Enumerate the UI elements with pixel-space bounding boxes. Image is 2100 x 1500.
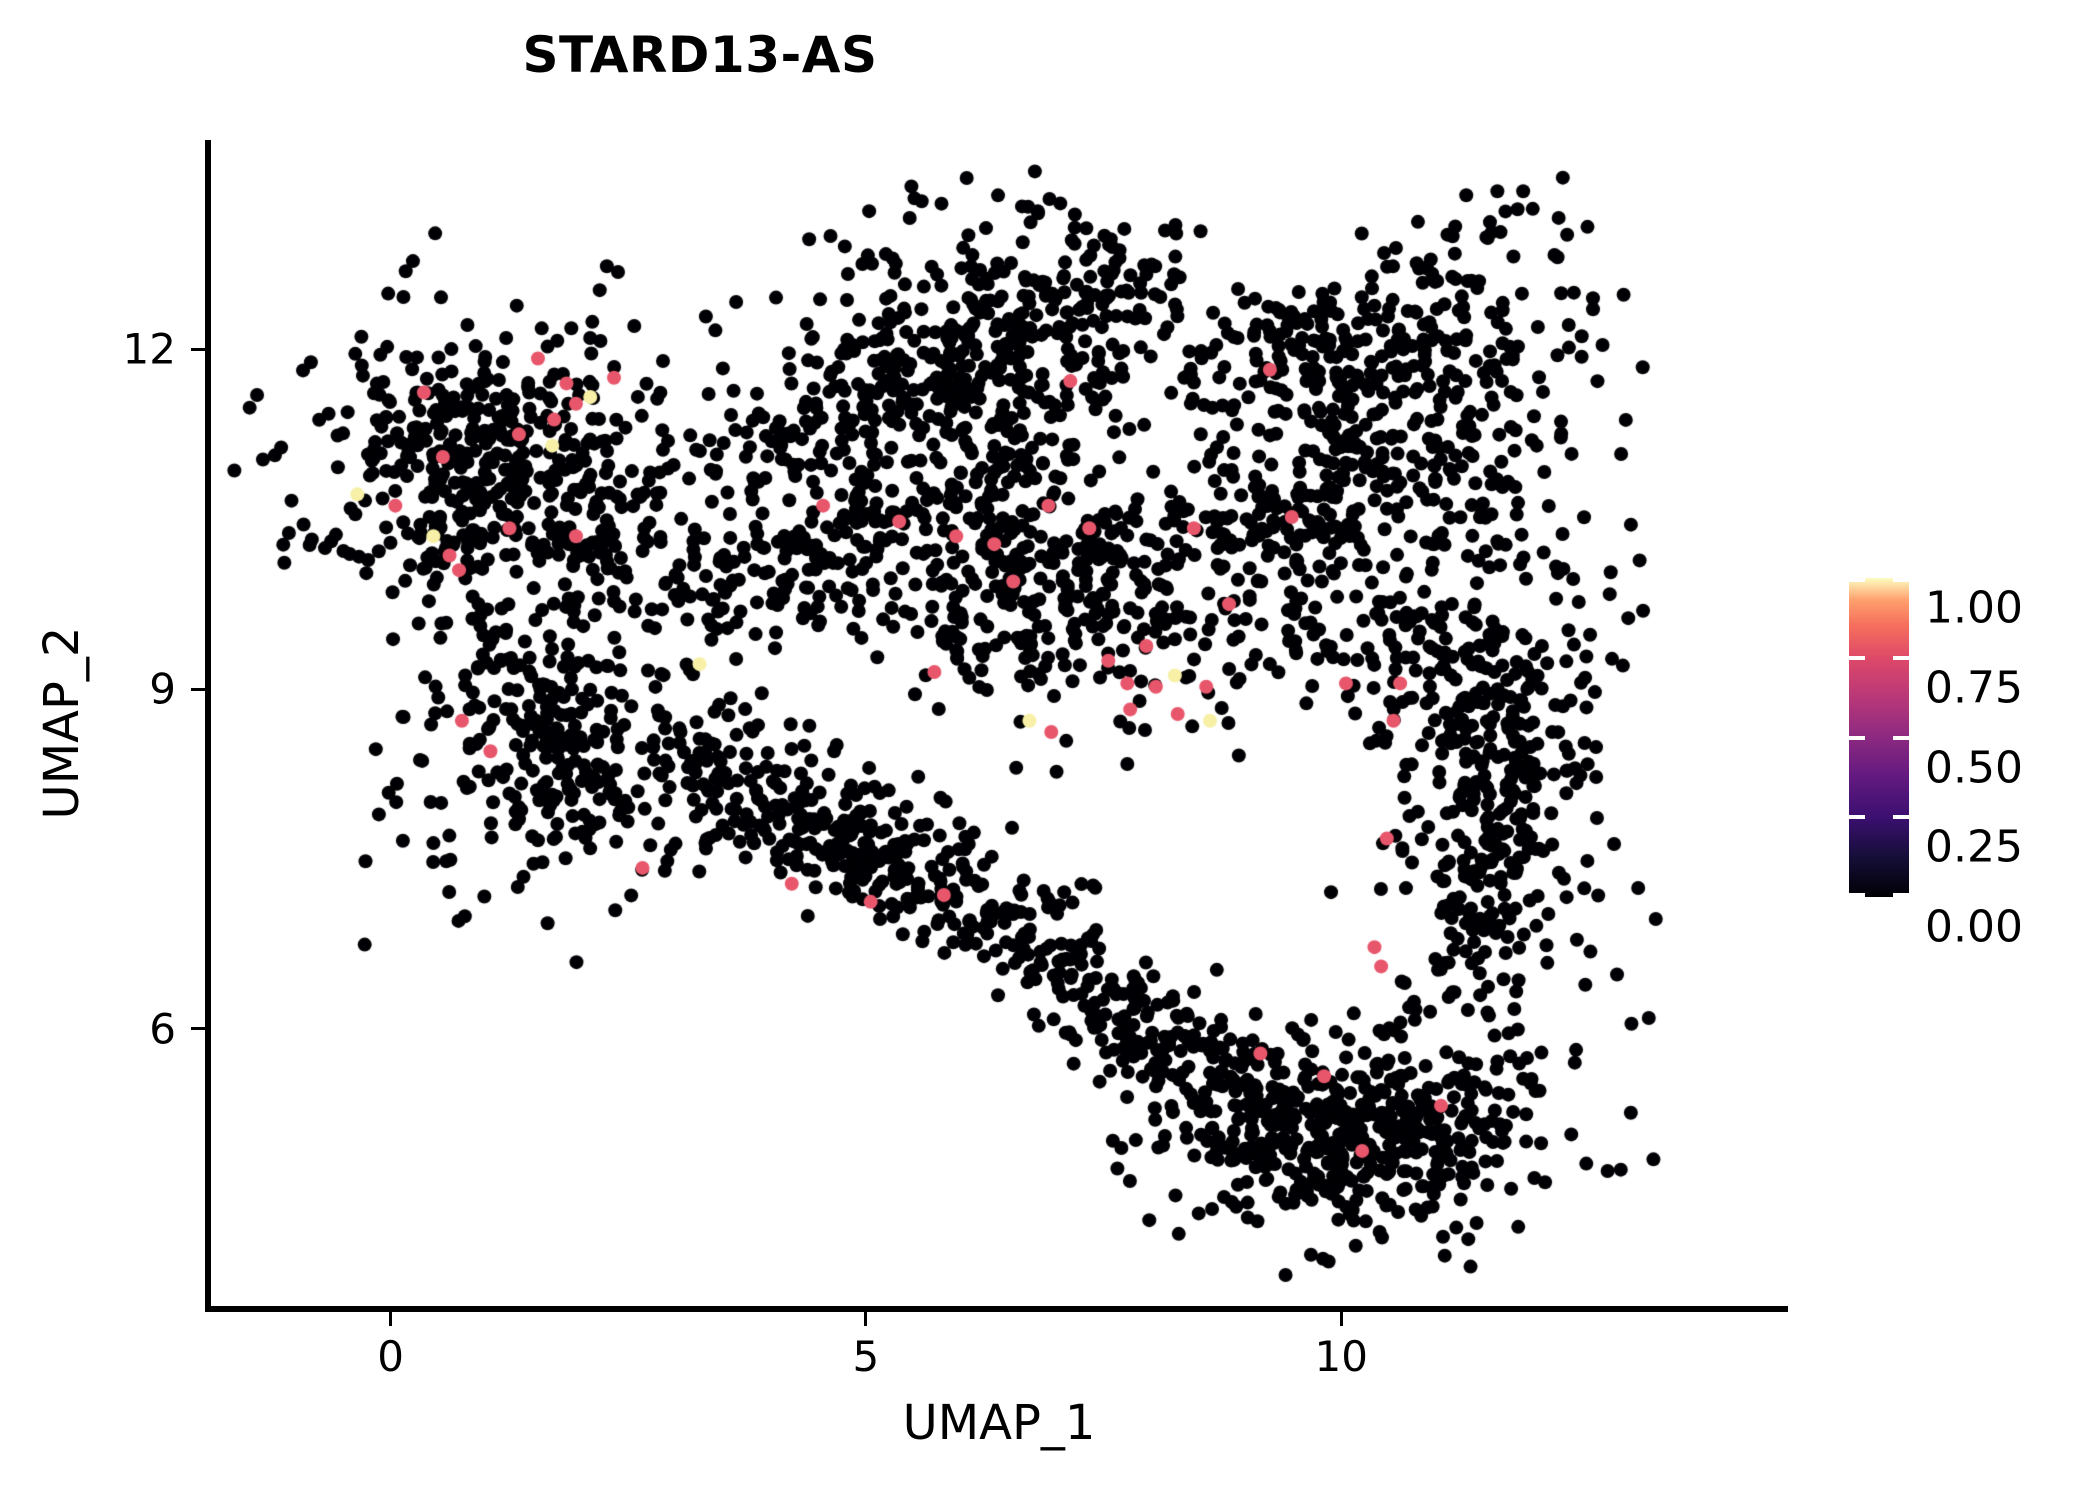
page-title: STARD13-AS: [0, 26, 1400, 84]
colorbar-tick-label: 0.25: [1925, 822, 2023, 873]
x-tick-mark: [389, 1312, 392, 1326]
x-axis-label: UMAP_1: [210, 1395, 1788, 1451]
colorbar-tick-label: 1.00: [1925, 583, 2023, 634]
x-tick-mark: [864, 1312, 867, 1326]
colorbar: 1.000.750.500.250.00: [1849, 578, 2089, 898]
colorbar-tick-mark: [1849, 736, 1909, 740]
x-tick-label: 5: [853, 1332, 880, 1381]
colorbar-tick-label: 0.75: [1925, 662, 2023, 713]
x-tick-mark: [1340, 1312, 1343, 1326]
x-tick-label: 0: [377, 1332, 404, 1381]
y-tick-mark: [191, 1027, 205, 1030]
figure-root: STARD13-AS 0510 6912 UMAP_1 UMAP_2 1.000…: [0, 0, 2100, 1500]
colorbar-tick-mark: [1849, 578, 1909, 582]
x-tick-label: 10: [1314, 1332, 1367, 1381]
y-tick-label: 12: [123, 325, 176, 374]
colorbar-tick-label: 0.00: [1925, 902, 2023, 953]
y-tick-mark: [191, 688, 205, 691]
colorbar-tick-mark: [1849, 893, 1909, 897]
x-axis-spine: [205, 1306, 1788, 1312]
y-tick-label: 9: [149, 665, 176, 714]
scatter-plot-canvas: [210, 140, 1788, 1306]
plot-axes: 0510 6912 UMAP_1 UMAP_2: [210, 140, 1788, 1306]
y-tick-label: 6: [149, 1004, 176, 1053]
y-tick-mark: [191, 348, 205, 351]
y-axis-label: UMAP_2: [34, 627, 90, 820]
colorbar-tick-mark: [1849, 815, 1909, 819]
colorbar-tick-mark: [1849, 656, 1909, 660]
colorbar-tick-label: 0.50: [1925, 742, 2023, 793]
